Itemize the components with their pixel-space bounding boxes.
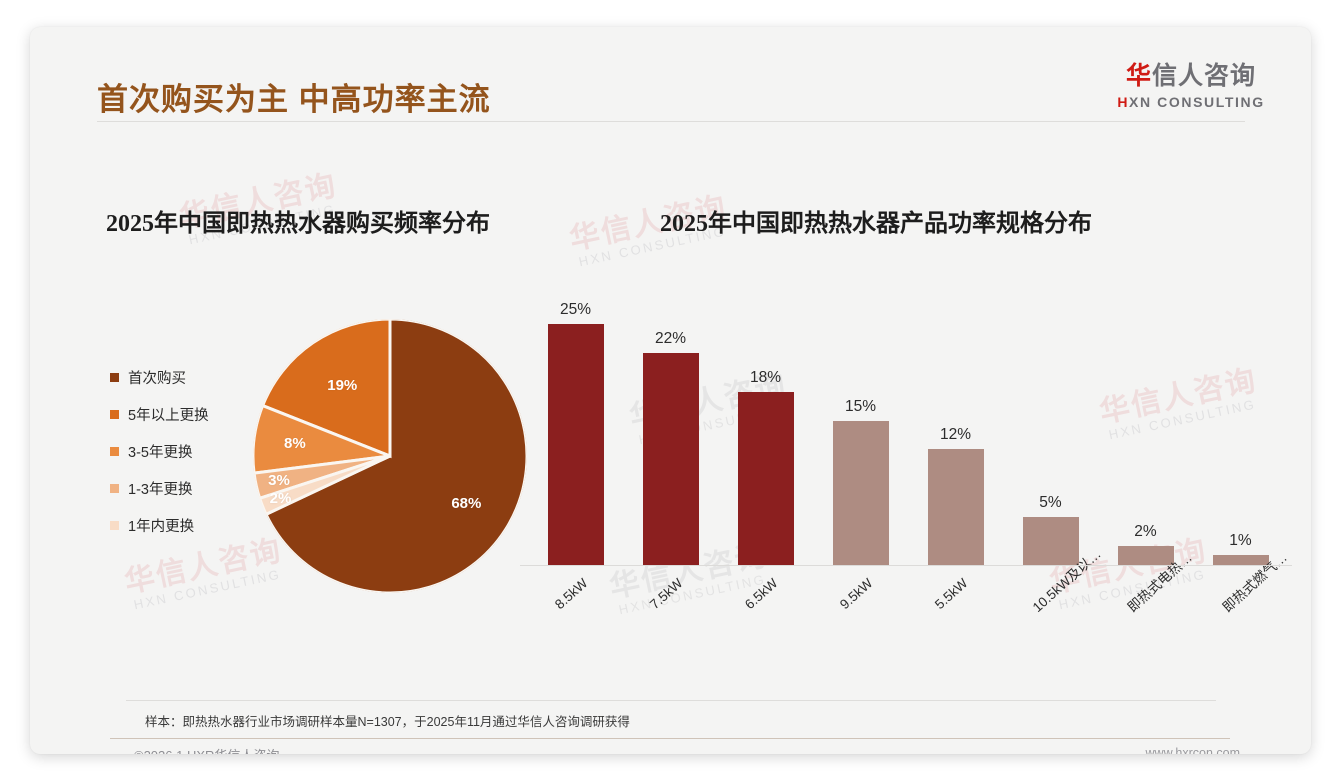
- bar-plot-area: 25%8.5kW22%7.5kW18%6.5kW15%9.5kW12%5.5kW…: [528, 305, 1288, 565]
- bar-axis-line: [520, 565, 1292, 566]
- pie-legend-item[interactable]: 5年以上更换: [110, 399, 250, 430]
- bar-value-label: 5%: [1006, 494, 1096, 512]
- slide-canvas: 华信人咨询 HXN CONSULTING 华信人咨询 HXN CONSULTIN…: [30, 27, 1311, 754]
- logo-english: HXN CONSULTING: [1111, 94, 1271, 110]
- logo-chinese: 华信人咨询: [1111, 62, 1271, 91]
- pie-slice-value: 19%: [322, 377, 362, 394]
- pie-slice-value: 3%: [259, 472, 299, 489]
- header-divider: [97, 121, 1245, 122]
- pie-legend-item[interactable]: 1-3年更换: [110, 473, 250, 504]
- bar-category-label: 8.5kW: [552, 575, 590, 612]
- bar-category-label: 9.5kW: [837, 575, 875, 612]
- bar-value-label: 25%: [531, 301, 621, 319]
- bar-value-label: 12%: [911, 426, 1001, 444]
- bar-value-label: 15%: [816, 398, 906, 416]
- pie-chart: 首次购买5年以上更换3-5年更换1-3年更换1年内更换 68%19%8%3%2%: [90, 277, 540, 637]
- website-link[interactable]: www.hxrcon.com: [1146, 746, 1240, 754]
- source-note: 样本：即热热水器行业市场调研样本量N=1307，于2025年11月通过华信人咨询…: [145, 711, 630, 730]
- bar-chart: 25%8.5kW22%7.5kW18%6.5kW15%9.5kW12%5.5kW…: [500, 277, 1300, 647]
- logo-english-rest: XN CONSULTING: [1129, 94, 1265, 110]
- bar-column[interactable]: 22%7.5kW: [643, 305, 699, 565]
- bar-column[interactable]: 2%即热式电热…: [1118, 305, 1174, 565]
- bar-column[interactable]: 15%9.5kW: [833, 305, 889, 565]
- footer-divider: [110, 738, 1230, 739]
- bar-rectangle: [548, 324, 604, 565]
- bar-column[interactable]: 1%即热式燃气…: [1213, 305, 1269, 565]
- bar-rectangle: [1023, 517, 1079, 565]
- pie-legend-label: 首次购买: [128, 367, 186, 388]
- bar-value-label: 2%: [1101, 523, 1191, 541]
- copyright-text: ©2026.1 HXR华信人咨询: [134, 745, 279, 754]
- page-title: 首次购买为主 中高功率主流: [97, 74, 491, 119]
- pie-slice-value: 68%: [446, 495, 486, 512]
- pie-legend-label: 3-5年更换: [128, 441, 192, 462]
- bar-value-label: 1%: [1196, 532, 1286, 550]
- pie-graphic: [253, 319, 527, 593]
- pie-legend-label: 5年以上更换: [128, 404, 209, 425]
- pie-legend-swatch: [110, 484, 119, 493]
- bar-rectangle: [833, 421, 889, 565]
- pie-legend-item[interactable]: 1年内更换: [110, 510, 250, 541]
- pie-chart-title: 2025年中国即热热水器购买频率分布: [106, 203, 490, 238]
- pie-legend-label: 1-3年更换: [128, 478, 192, 499]
- bar-column[interactable]: 5%10.5kW及以…: [1023, 305, 1079, 565]
- bar-category-label: 6.5kW: [742, 575, 780, 612]
- pie-legend-swatch: [110, 521, 119, 530]
- pie-legend-label: 1年内更换: [128, 515, 194, 536]
- logo-english-accent: H: [1117, 94, 1129, 110]
- bar-rectangle: [738, 392, 794, 565]
- bar-chart-title: 2025年中国即热热水器产品功率规格分布: [660, 203, 1092, 238]
- logo-chinese-accent: 华: [1126, 62, 1152, 90]
- logo-chinese-rest: 信人咨询: [1152, 62, 1256, 90]
- bar-column[interactable]: 25%8.5kW: [548, 305, 604, 565]
- bar-category-label: 5.5kW: [932, 575, 970, 612]
- bar-rectangle: [928, 449, 984, 565]
- pie-legend-swatch: [110, 410, 119, 419]
- brand-logo: 华信人咨询 HXN CONSULTING: [1111, 62, 1271, 110]
- bar-category-label: 7.5kW: [647, 575, 685, 612]
- pie-legend-item[interactable]: 3-5年更换: [110, 436, 250, 467]
- pie-slice-value: 8%: [275, 435, 315, 452]
- pie-legend: 首次购买5年以上更换3-5年更换1-3年更换1年内更换: [110, 362, 250, 547]
- bar-column[interactable]: 12%5.5kW: [928, 305, 984, 565]
- pie-legend-item[interactable]: 首次购买: [110, 362, 250, 393]
- bar-rectangle: [643, 353, 699, 565]
- bar-value-label: 18%: [721, 369, 811, 387]
- source-divider: [126, 700, 1216, 701]
- pie-slice-value: 2%: [260, 490, 300, 507]
- bar-column[interactable]: 18%6.5kW: [738, 305, 794, 565]
- pie-legend-swatch: [110, 447, 119, 456]
- bar-value-label: 22%: [626, 330, 716, 348]
- pie-legend-swatch: [110, 373, 119, 382]
